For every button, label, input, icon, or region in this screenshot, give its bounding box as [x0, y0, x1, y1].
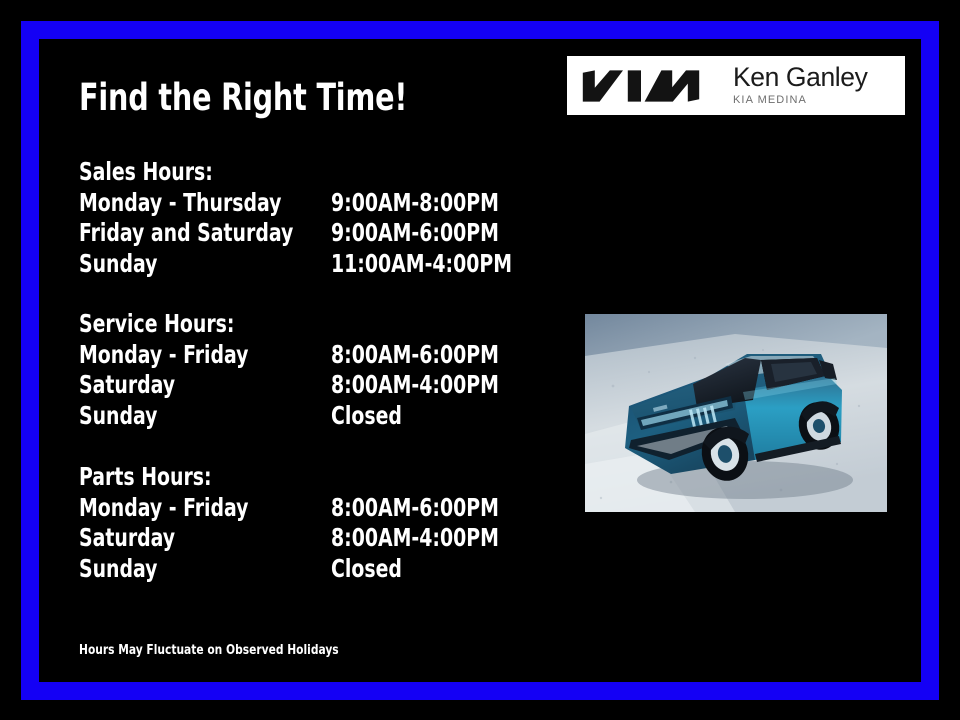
- dealership-hours-slide: Find the Right Time! Sales Hours: Monday…: [0, 0, 960, 720]
- hours-day-label: Sunday: [79, 554, 157, 585]
- hours-time-value: Closed: [331, 554, 402, 585]
- hours-row: Friday and Saturday 9:00AM-6:00PM: [79, 218, 599, 249]
- hours-time-value: 8:00AM-4:00PM: [331, 370, 499, 401]
- hours-day-label: Monday - Friday: [79, 493, 248, 524]
- dealer-logo-card: Ken Ganley KIA MEDINA: [567, 56, 905, 115]
- hours-time-value: Closed: [331, 401, 402, 432]
- hours-heading-parts: Parts Hours:: [79, 462, 516, 493]
- hours-heading-sales: Sales Hours:: [79, 157, 516, 188]
- hours-row: Sunday 11:00AM-4:00PM: [79, 249, 599, 280]
- hours-time-value: 8:00AM-6:00PM: [331, 493, 499, 524]
- hours-day-label: Sunday: [79, 249, 157, 280]
- hours-day-label: Saturday: [79, 523, 175, 554]
- dealer-subtitle: KIA MEDINA: [733, 94, 867, 107]
- hours-row: Saturday 8:00AM-4:00PM: [79, 523, 599, 554]
- hours-block-service: Service Hours: Monday - Friday 8:00AM-6:…: [79, 309, 599, 431]
- hours-time-value: 8:00AM-4:00PM: [331, 523, 499, 554]
- dealer-logo-text: Ken Ganley KIA MEDINA: [733, 64, 867, 107]
- hours-time-value: 8:00AM-6:00PM: [331, 340, 499, 371]
- hours-row: Sunday Closed: [79, 401, 599, 432]
- hours-row: Saturday 8:00AM-4:00PM: [79, 370, 599, 401]
- hours-day-label: Sunday: [79, 401, 157, 432]
- hours-time-value: 9:00AM-8:00PM: [331, 188, 499, 219]
- hours-row: Monday - Friday 8:00AM-6:00PM: [79, 340, 599, 371]
- hours-block-parts: Parts Hours: Monday - Friday 8:00AM-6:00…: [79, 462, 599, 584]
- kia-ev9-suv-photo: [585, 314, 887, 512]
- hours-time-value: 11:00AM-4:00PM: [331, 249, 512, 280]
- hours-row: Sunday Closed: [79, 554, 599, 585]
- hours-time-value: 9:00AM-6:00PM: [331, 218, 499, 249]
- hours-day-label: Friday and Saturday: [79, 218, 293, 249]
- dealer-name: Ken Ganley: [733, 64, 867, 91]
- hours-block-sales: Sales Hours: Monday - Thursday 9:00AM-8:…: [79, 157, 599, 279]
- hours-day-label: Monday - Thursday: [79, 188, 281, 219]
- hours-heading-service: Service Hours:: [79, 309, 516, 340]
- hours-day-label: Monday - Friday: [79, 340, 248, 371]
- page-title: Find the Right Time!: [79, 77, 407, 119]
- kia-logo-icon: [581, 69, 707, 103]
- hours-row: Monday - Friday 8:00AM-6:00PM: [79, 493, 599, 524]
- holiday-disclaimer: Hours May Fluctuate on Observed Holidays: [79, 642, 339, 658]
- hours-row: Monday - Thursday 9:00AM-8:00PM: [79, 188, 599, 219]
- hours-day-label: Saturday: [79, 370, 175, 401]
- slide-content-area: Find the Right Time! Sales Hours: Monday…: [39, 39, 921, 682]
